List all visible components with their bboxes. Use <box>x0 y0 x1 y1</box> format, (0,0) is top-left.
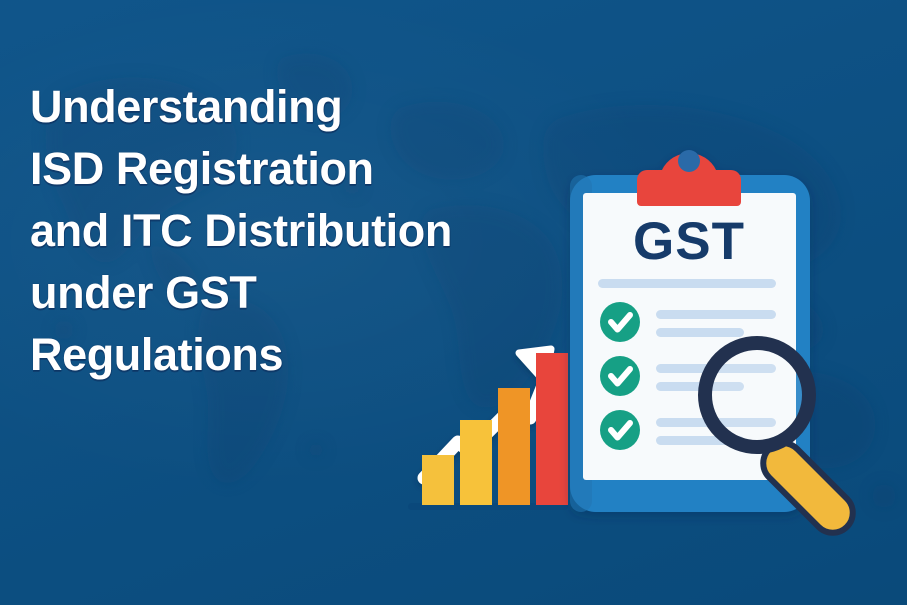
headline-line-4: under GST <box>30 262 570 324</box>
headline-line-5: Regulations <box>30 324 570 386</box>
gst-banner: Understanding ISD Registration and ITC D… <box>0 0 907 605</box>
headline-line-2: ISD Registration <box>30 138 570 200</box>
headline-line-1: Understanding <box>30 76 570 138</box>
page-title: Understanding ISD Registration and ITC D… <box>30 76 570 386</box>
headline-line-3: and ITC Distribution <box>30 200 570 262</box>
